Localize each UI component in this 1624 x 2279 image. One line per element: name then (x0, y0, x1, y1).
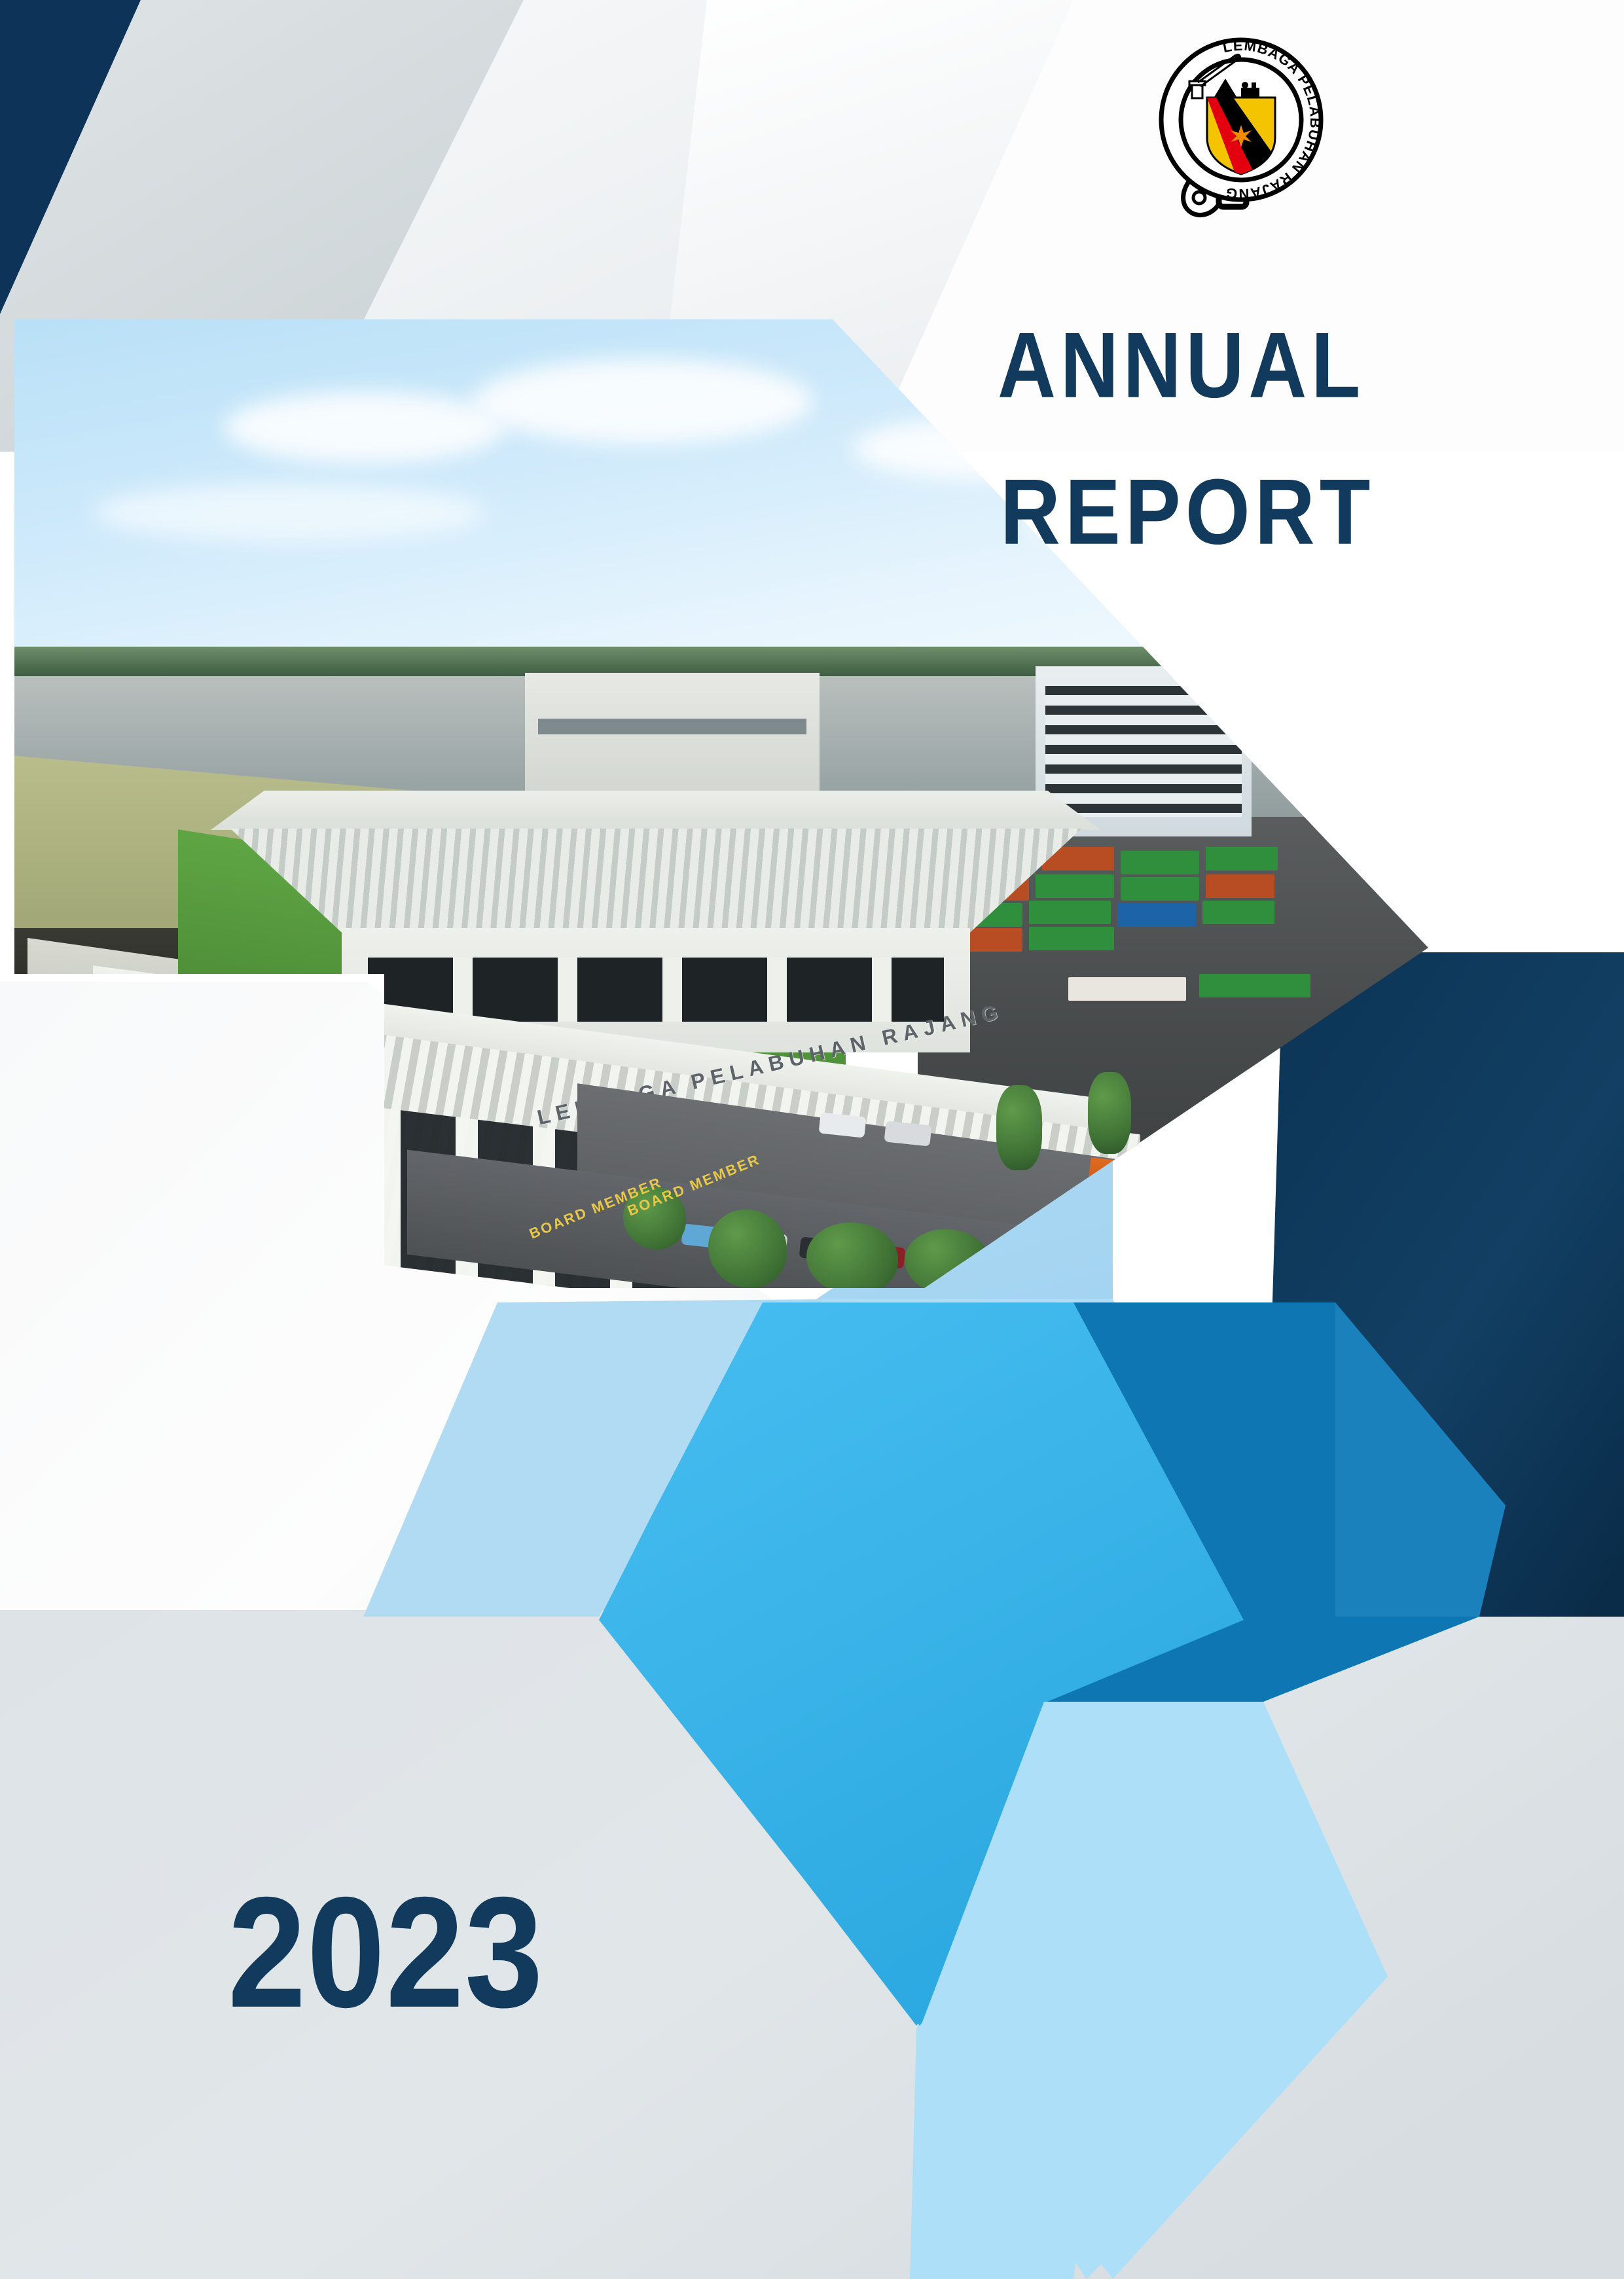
annual-report-cover: LEMBAGA PELABUHAN RAJANG SIN YANG BOARD … (0, 0, 1624, 2279)
organization-logo: LEMBAGA PELABUHAN RAJANG (1152, 33, 1329, 229)
photo-hq-penthouse-band (538, 719, 806, 734)
page-title-report: REPORT (1000, 466, 1375, 559)
report-year: 2023 (228, 1873, 544, 2031)
photo-hq-crown (211, 791, 1101, 830)
photo-hq-penthouse (525, 673, 820, 797)
photo-hq-flared-canopy (230, 829, 1081, 940)
photo-hq-mid-windows (368, 958, 944, 1022)
page-title-annual: ANNUAL (998, 319, 1365, 412)
logo-tag-hole-left (1193, 192, 1205, 204)
